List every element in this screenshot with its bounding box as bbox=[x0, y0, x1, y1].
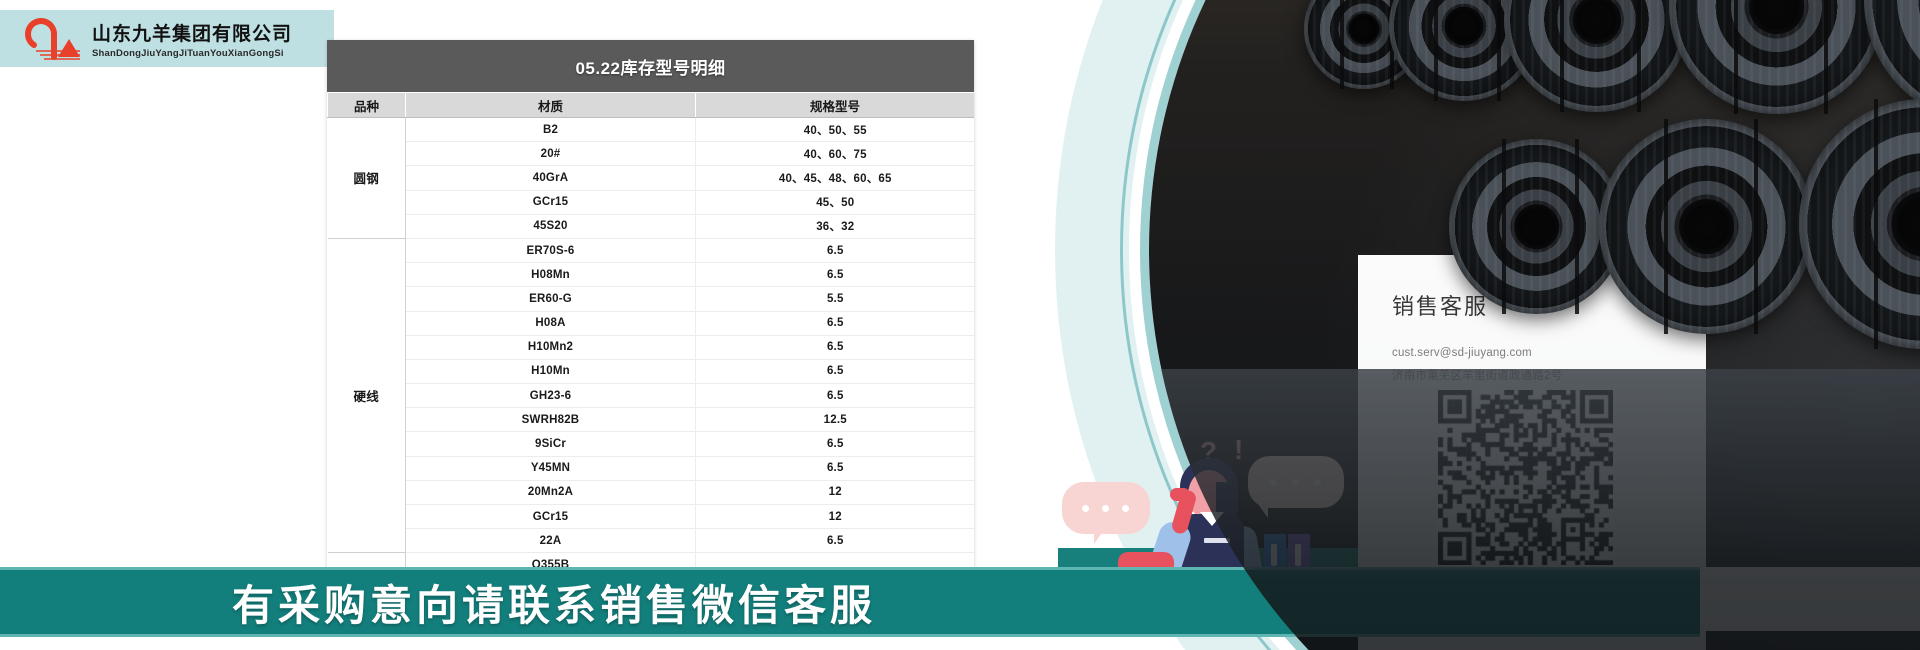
cell-spec: 6.5 bbox=[696, 263, 975, 287]
cell-material: 20# bbox=[406, 142, 696, 166]
table-row: 圆钢B240、50、55 bbox=[328, 118, 975, 142]
speech-bubble-left bbox=[1062, 482, 1150, 534]
cell-material: H10Mn bbox=[406, 359, 696, 383]
cell-spec: 12 bbox=[696, 505, 975, 529]
table-row: 20Mn2A12 bbox=[328, 480, 975, 504]
cell-material: GH23-6 bbox=[406, 384, 696, 408]
table-row: 硬线ER70S-66.5 bbox=[328, 238, 975, 262]
column-header-spec: 规格型号 bbox=[696, 93, 975, 118]
table-row: H10Mn26.5 bbox=[328, 335, 975, 359]
cell-material: 22A bbox=[406, 529, 696, 553]
table-header-row: 品种 材质 规格型号 bbox=[328, 93, 975, 118]
cell-material: H10Mn2 bbox=[406, 335, 696, 359]
table-row: 9SiCr6.5 bbox=[328, 432, 975, 456]
table-row: 20#40、60、75 bbox=[328, 142, 975, 166]
table-row: H10Mn6.5 bbox=[328, 359, 975, 383]
cell-category: 圆钢 bbox=[328, 118, 406, 239]
contact-email[interactable]: cust.serv@sd-jiuyang.com bbox=[1392, 347, 1532, 359]
cell-spec: 36、32 bbox=[696, 214, 975, 238]
cell-spec: 6.5 bbox=[696, 335, 975, 359]
table-row: GCr1545、50 bbox=[328, 190, 975, 214]
contact-title: 销售客服 bbox=[1392, 289, 1488, 321]
cell-spec: 45、50 bbox=[696, 190, 975, 214]
company-logo-bar: 山东九羊集团有限公司 ShanDongJiuYangJiTuanYouXianG… bbox=[0, 10, 334, 67]
cell-spec: 5.5 bbox=[696, 287, 975, 311]
cell-material: SWRH82B bbox=[406, 408, 696, 432]
cell-material: GCr15 bbox=[406, 505, 696, 529]
table-row: GCr1512 bbox=[328, 505, 975, 529]
table-row: H08Mn6.5 bbox=[328, 263, 975, 287]
cell-spec: 6.5 bbox=[696, 359, 975, 383]
jiuyang-loop-logo-icon bbox=[24, 15, 86, 63]
cell-spec: 40、50、55 bbox=[696, 118, 975, 142]
table-row: SWRH82B12.5 bbox=[328, 408, 975, 432]
table-row: GH23-66.5 bbox=[328, 384, 975, 408]
company-name-cn: 山东九羊集团有限公司 bbox=[92, 19, 292, 46]
table-row: H08A6.5 bbox=[328, 311, 975, 335]
cell-spec: 6.5 bbox=[696, 384, 975, 408]
poster-canvas: 山东九羊集团有限公司 ShanDongJiuYangJiTuanYouXianG… bbox=[0, 0, 1920, 650]
cell-material: B2 bbox=[406, 118, 696, 142]
table-row: ER60-G5.5 bbox=[328, 287, 975, 311]
cell-material: ER70S-6 bbox=[406, 238, 696, 262]
cell-material: 20Mn2A bbox=[406, 480, 696, 504]
cell-material: H08A bbox=[406, 311, 696, 335]
column-header-category: 品种 bbox=[328, 93, 406, 118]
cell-spec: 12.5 bbox=[696, 408, 975, 432]
cell-spec: 40、45、48、60、65 bbox=[696, 166, 975, 190]
cell-material: GCr15 bbox=[406, 190, 696, 214]
company-name-pinyin: ShanDongJiuYangJiTuanYouXianGongSi bbox=[92, 48, 292, 59]
table-row: 40GrA40、45、48、60、65 bbox=[328, 166, 975, 190]
cell-spec: 6.5 bbox=[696, 311, 975, 335]
cta-banner-text: 有采购意向请联系销售微信客服 bbox=[232, 572, 876, 633]
cell-spec: 6.5 bbox=[696, 238, 975, 262]
cell-material: 45S20 bbox=[406, 214, 696, 238]
table-title: 05.22库存型号明细 bbox=[327, 40, 974, 92]
cell-category: 硬线 bbox=[328, 238, 406, 552]
cell-material: Y45MN bbox=[406, 456, 696, 480]
cell-spec: 6.5 bbox=[696, 456, 975, 480]
table-row: 45S2036、32 bbox=[328, 214, 975, 238]
cell-material: 40GrA bbox=[406, 166, 696, 190]
inventory-table-card: 05.22库存型号明细 品种 材质 规格型号 圆钢B240、50、5520#40… bbox=[327, 40, 974, 601]
cell-spec: 40、60、75 bbox=[696, 142, 975, 166]
cell-material: ER60-G bbox=[406, 287, 696, 311]
cell-material: H08Mn bbox=[406, 263, 696, 287]
column-header-material: 材质 bbox=[406, 93, 696, 118]
table-row: Y45MN6.5 bbox=[328, 456, 975, 480]
cell-spec: 12 bbox=[696, 480, 975, 504]
cell-material: 9SiCr bbox=[406, 432, 696, 456]
table-row: 22A6.5 bbox=[328, 529, 975, 553]
cell-spec: 6.5 bbox=[696, 529, 975, 553]
cell-spec: 6.5 bbox=[696, 432, 975, 456]
inventory-table: 品种 材质 规格型号 圆钢B240、50、5520#40、60、7540GrA4… bbox=[327, 92, 974, 601]
